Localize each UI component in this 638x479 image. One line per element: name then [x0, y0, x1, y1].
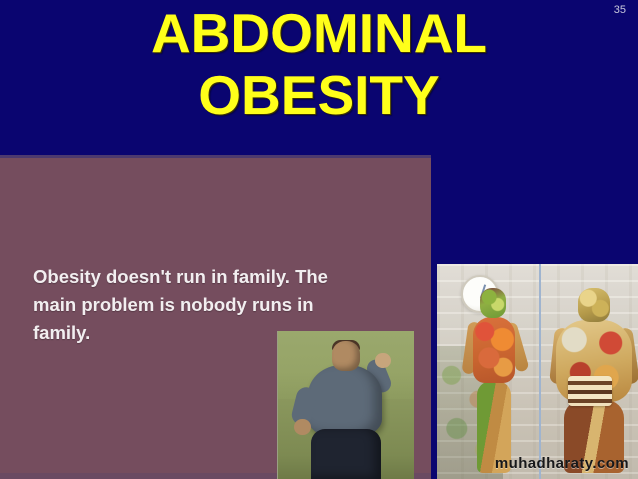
jogger-right-hand	[375, 353, 391, 368]
page-title: ABDOMINAL OBESITY	[0, 2, 638, 126]
image-divider	[539, 264, 541, 479]
jogger-photo	[277, 331, 414, 479]
watermark: muhadharaty.com	[495, 455, 629, 472]
slim-figure-torso	[473, 317, 515, 383]
jogger-head	[332, 341, 360, 371]
jogger-left-hand	[294, 419, 311, 435]
slim-figure-head	[480, 288, 506, 318]
slim-vegetable-figure	[465, 288, 523, 473]
jogger-shorts	[311, 429, 381, 479]
food-figures-photo: muhadharaty.com	[437, 264, 638, 479]
title-band: ABDOMINAL OBESITY 35	[0, 0, 638, 152]
presentation-slide: ABDOMINAL OBESITY 35 Obesity doesn't run…	[0, 0, 638, 479]
jogger-torso	[308, 365, 382, 437]
layer-cake-detail	[568, 376, 612, 406]
slide-number: 35	[614, 4, 626, 16]
obese-figure-head	[578, 288, 610, 322]
obese-junkfood-figure	[552, 288, 636, 473]
